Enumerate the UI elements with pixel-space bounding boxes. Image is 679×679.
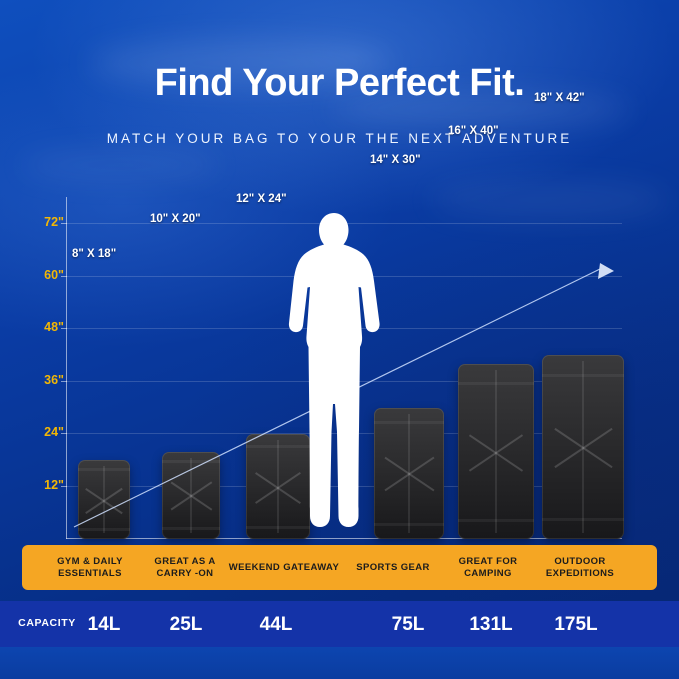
y-tick-label: 60": [24, 268, 64, 282]
bag-band: [374, 421, 444, 424]
infographic-root: Find Your Perfect Fit. MATCH YOUR BAG TO…: [0, 0, 679, 679]
bag-size-label: 16" X 40": [448, 125, 499, 137]
bag-band: [542, 518, 624, 521]
bag-bar: [78, 460, 130, 539]
y-tick-label: 12": [24, 478, 64, 492]
capacity-value: 14L: [68, 612, 140, 638]
y-tick-label: 48": [24, 320, 64, 334]
use-case-cell: GREAT FOR CAMPING: [440, 545, 536, 590]
bag-band: [78, 528, 130, 531]
bag-size-label: 8" X 18": [72, 248, 116, 260]
bag-size-label: 10" X 20": [150, 213, 201, 225]
capacity-value: 25L: [150, 612, 222, 638]
bag-size-label: 14" X 30": [370, 154, 421, 166]
y-tick-label: 36": [24, 373, 64, 387]
use-case-cell: SPORTS GEAR: [350, 545, 436, 590]
bag-strap-x-icon: [549, 425, 618, 469]
use-case-cell: WEEKEND GATEAWAY: [228, 545, 340, 590]
bag-bar: [374, 408, 444, 539]
bag-band: [78, 468, 130, 471]
bag-strap-x-icon: [464, 431, 528, 473]
bag-strap-x-icon: [167, 485, 216, 506]
bag-bar: [458, 364, 534, 539]
capacity-value: 44L: [240, 612, 312, 638]
capacity-band: CAPACITY 14L25L44L75L131L175L: [0, 601, 679, 647]
bag-band: [162, 527, 220, 530]
bag-band: [458, 382, 534, 385]
bag-strap-x-icon: [380, 458, 439, 489]
bag-band: [542, 374, 624, 377]
capacity-value: 75L: [372, 612, 444, 638]
bag-band: [458, 519, 534, 522]
y-tick-label: 24": [24, 425, 64, 439]
bag-bar: [162, 452, 220, 539]
bag-strap-x-icon: [82, 490, 126, 509]
y-tick-label: 72": [24, 215, 64, 229]
capacity-value: 131L: [455, 612, 527, 638]
use-case-cell: GREAT AS A CARRY -ON: [140, 545, 230, 590]
use-case-cell: GYM & DAILY ESSENTIALS: [40, 545, 140, 590]
human-silhouette-icon: [286, 211, 382, 541]
bag-band: [374, 523, 444, 526]
use-case-band: GYM & DAILY ESSENTIALSGREAT AS A CARRY -…: [22, 545, 657, 590]
bag-size-label: 12" X 24": [236, 193, 287, 205]
use-case-cell: OUTDOOR EXPEDITIONS: [528, 545, 632, 590]
capacity-value: 175L: [540, 612, 612, 638]
bag-size-label: 18" X 42": [534, 92, 585, 104]
bag-bar: [542, 355, 624, 539]
bag-band: [162, 460, 220, 463]
bottom-strip: [0, 647, 679, 679]
